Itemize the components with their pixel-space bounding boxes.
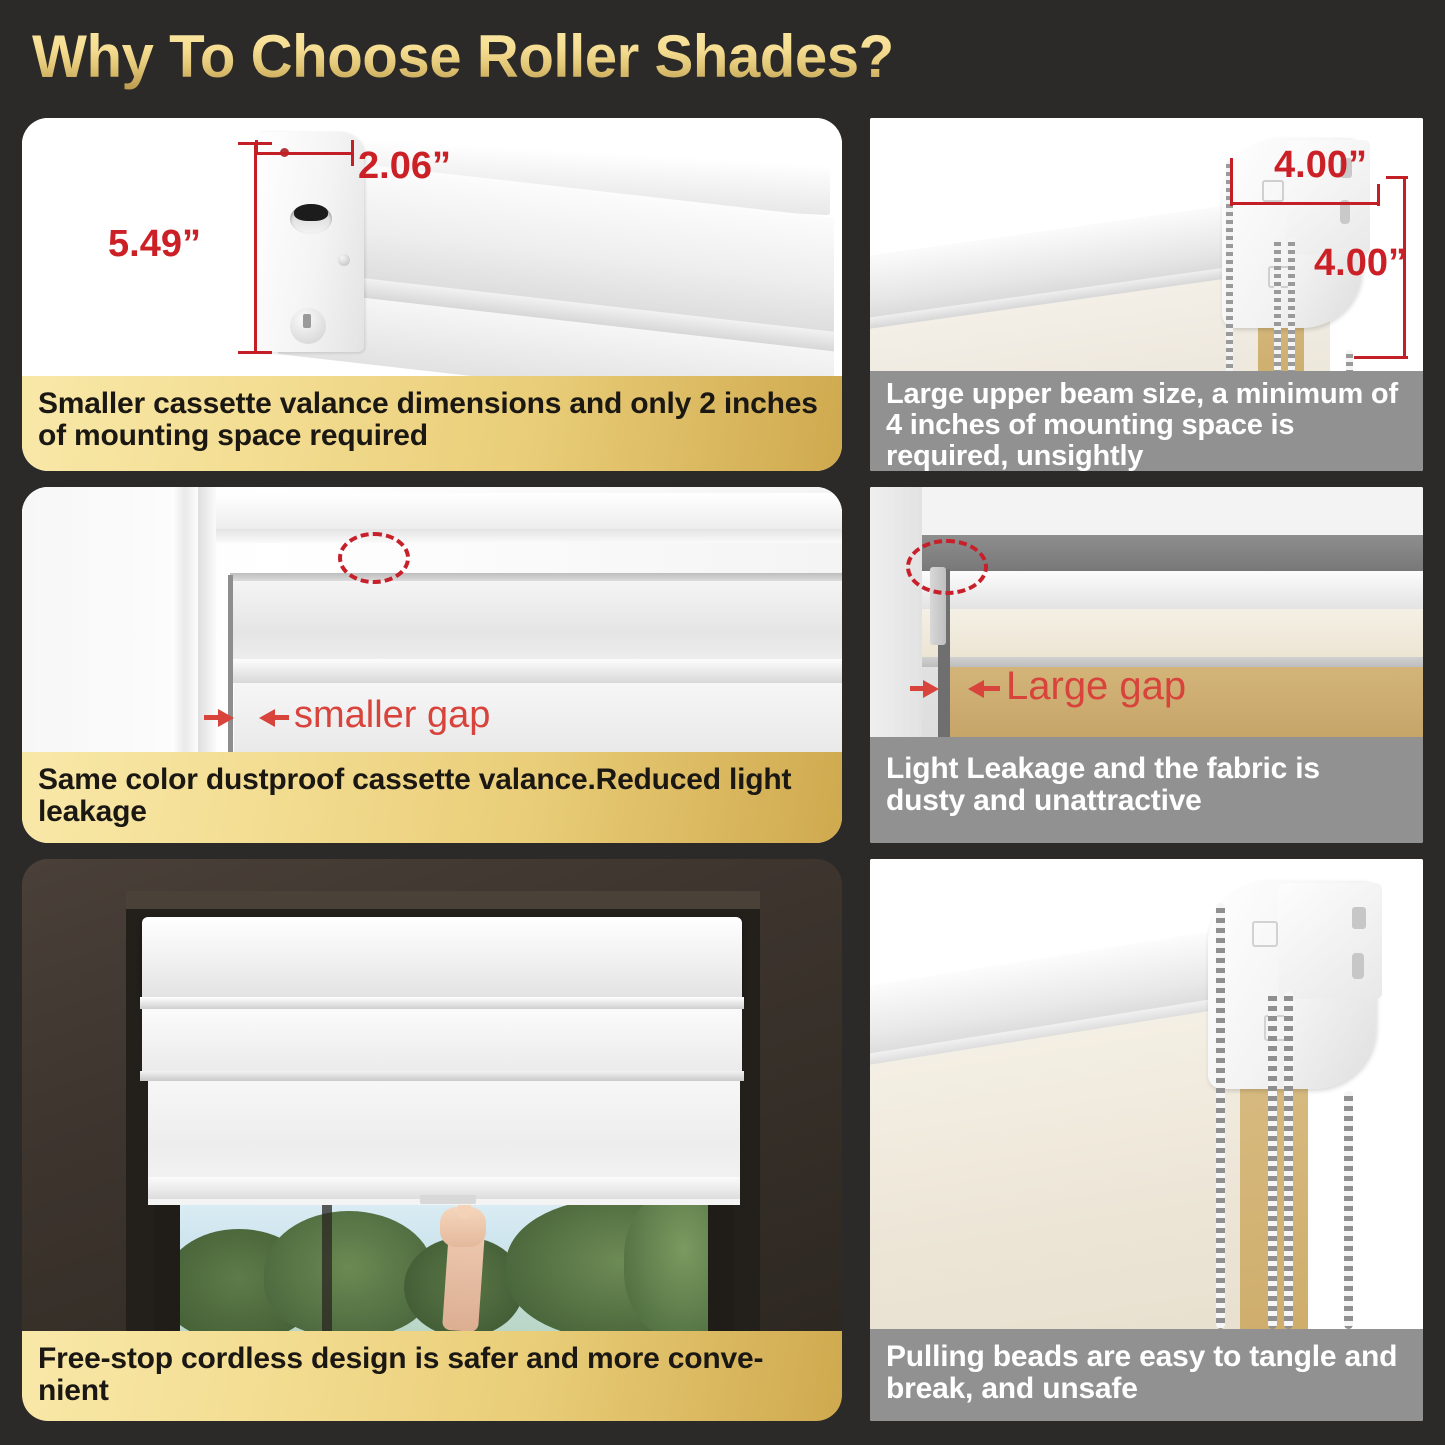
caption-row3-right: Pulling beads are easy to tangle and bre… — [870, 1329, 1423, 1421]
height-dimension-tick-top — [238, 142, 272, 145]
panel-row2-left-image: smaller gap — [22, 487, 842, 752]
gap-arrow-right-stem — [275, 715, 289, 720]
beam-height-tick-bottom — [1354, 356, 1408, 359]
bead-chain — [1216, 903, 1225, 1329]
caption-row2-right: Light Leakage and the fabric is dusty an… — [870, 737, 1423, 843]
gap-arrow-left-icon — [218, 709, 234, 727]
panel-row2-right: Large gap Light Leakage and the fabric i… — [870, 487, 1423, 843]
beam-width-dimension-line — [1230, 202, 1380, 205]
gap-arrow-right-icon — [259, 709, 275, 727]
highlight-circle-icon — [906, 539, 988, 595]
comparison-grid: 2.06” 5.49” Smaller cassette valance dim… — [0, 0, 1445, 1445]
gap-arrow-left-icon — [923, 680, 939, 698]
highlight-circle-icon — [338, 532, 410, 584]
beam-width-tick-right — [1377, 184, 1380, 206]
panel-row3-left-image — [22, 859, 842, 1331]
caption-row2-left: Same color dustproof cassette valance.Re… — [22, 752, 842, 843]
height-dimension-label: 5.49” — [108, 223, 201, 266]
beam-height-tick-top — [1386, 176, 1408, 179]
gap-callout-label: smaller gap — [294, 694, 490, 737]
panel-row1-left: 2.06” 5.49” Smaller cassette valance dim… — [22, 118, 842, 471]
panel-row3-right: Pulling beads are easy to tangle and bre… — [870, 859, 1423, 1421]
height-dimension-tick-bottom — [238, 351, 272, 354]
panel-row2-left: smaller gap Same color dustproof cassett… — [22, 487, 842, 843]
caption-row1-right: Large upper beam size, a minimum of 4 in… — [870, 371, 1423, 471]
width-dimension-tick-right — [351, 140, 354, 166]
panel-row1-right: 4.00” 4.00” Large upper beam size, a min… — [870, 118, 1423, 471]
width-dimension-label: 2.06” — [358, 145, 451, 188]
caption-row1-left: Smaller cassette valance dimensions and … — [22, 376, 842, 471]
gap-arrow-left-stem — [204, 715, 220, 720]
panel-row1-left-image: 2.06” 5.49” — [22, 118, 842, 376]
panel-row2-right-image: Large gap — [870, 487, 1423, 737]
gap-arrow-left-stem — [910, 686, 924, 691]
caption-row3-left: Free-stop cordless design is safer and m… — [22, 1331, 842, 1421]
beam-width-dimension-label: 4.00” — [1274, 144, 1367, 187]
beam-height-dimension-label: 4.00” — [1314, 242, 1407, 285]
height-dimension-line — [254, 142, 257, 354]
caption-row3-left-line1: Free-stop cordless design is safer and m… — [38, 1343, 826, 1375]
bead-chain — [1344, 1091, 1353, 1329]
panel-row3-right-image — [870, 859, 1423, 1329]
gap-arrow-right-icon — [968, 680, 984, 698]
gap-arrow-right-stem — [984, 686, 1000, 691]
infographic-page: Why To Choose Roller Shades? — [0, 0, 1445, 1445]
caption-row3-left-line2: nient — [38, 1375, 826, 1407]
beam-width-tick-left — [1230, 158, 1233, 206]
gap-callout-label: Large gap — [1006, 664, 1186, 709]
bead-chain — [1284, 991, 1293, 1329]
panel-row1-right-image: 4.00” 4.00” — [870, 118, 1423, 376]
width-dimension-line — [255, 152, 354, 155]
panel-row3-left: Free-stop cordless design is safer and m… — [22, 859, 842, 1421]
bead-chain — [1268, 991, 1277, 1329]
